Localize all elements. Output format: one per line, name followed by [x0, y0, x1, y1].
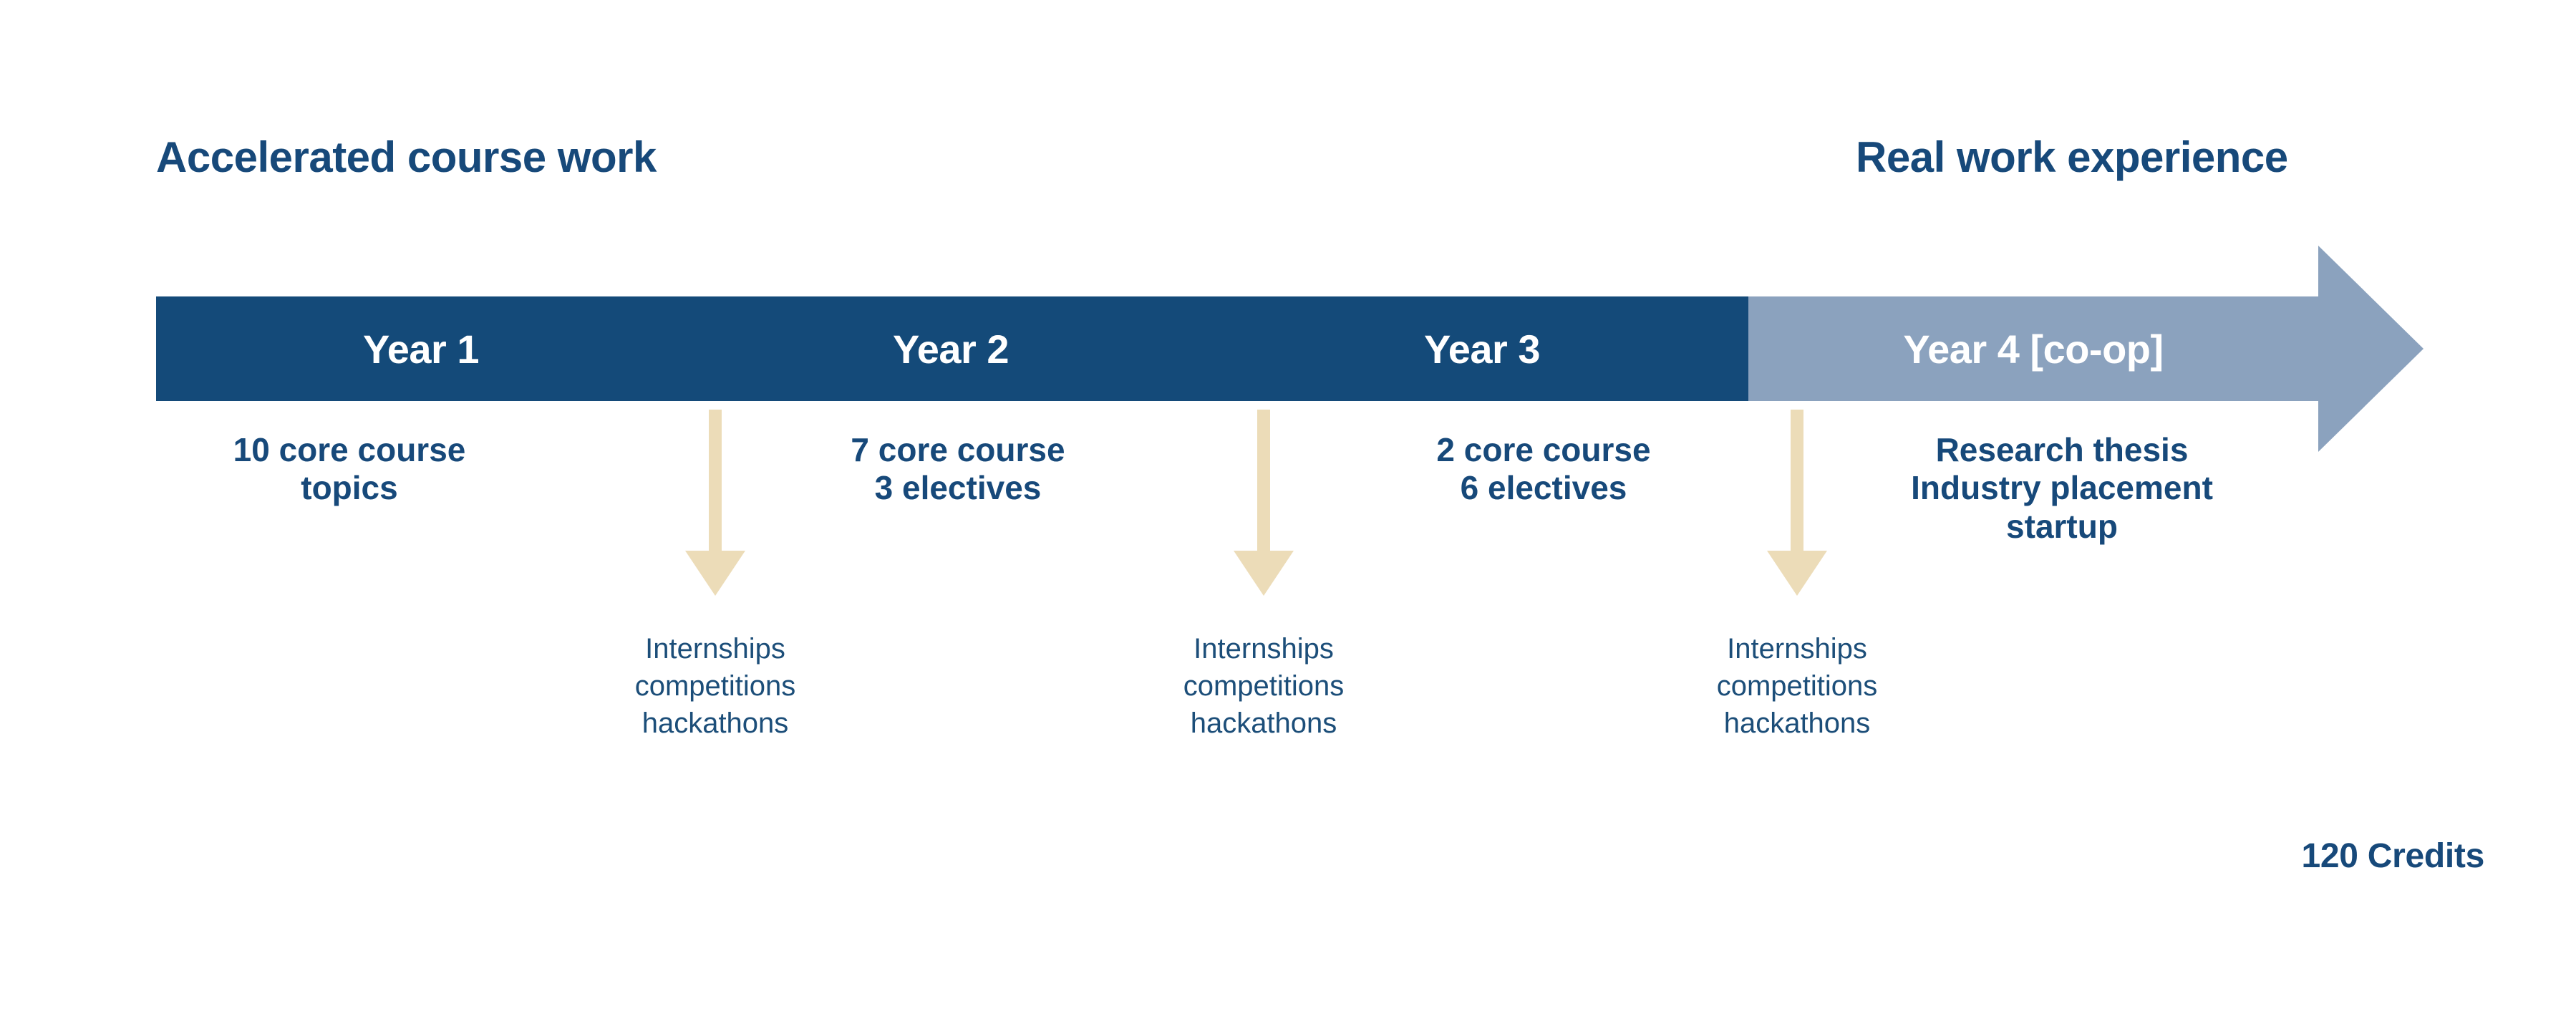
milestone-caption-1: Internships competitions hackathons [565, 630, 866, 742]
timeline-segment-year-4: Year 4 [co-op] [1748, 296, 2318, 401]
year-1-description: 10 core course topics [163, 431, 536, 508]
timeline-segment-year-2: Year 2 [686, 296, 1216, 401]
curriculum-timeline-diagram: Accelerated course work Real work experi… [0, 0, 2576, 1014]
milestone-caption-3: Internships competitions hackathons [1647, 630, 1947, 742]
arrow-right-icon [2318, 246, 2424, 452]
segment-label-year-1: Year 1 [363, 326, 479, 372]
timeline-band: Year 1 Year 2 Year 3 Year 4 [co-op] [156, 296, 2318, 401]
milestone-caption-2: Internships competitions hackathons [1113, 630, 1414, 742]
header-accelerated-course-work: Accelerated course work [156, 132, 657, 182]
timeline-segment-year-3: Year 3 [1216, 296, 1748, 401]
segment-label-year-4: Year 4 [co-op] [1903, 326, 2163, 372]
year-2-description: 7 core course 3 electives [772, 431, 1144, 508]
header-real-work-experience: Real work experience [1856, 132, 2288, 182]
total-credits-label: 120 Credits [2302, 836, 2485, 876]
arrow-down-icon [1767, 410, 1827, 596]
arrow-down-icon [1234, 410, 1294, 596]
timeline-segment-year-1: Year 1 [156, 296, 686, 401]
arrow-down-icon [685, 410, 745, 596]
year-4-description: Research thesis Industry placement start… [1811, 431, 2313, 546]
year-3-description: 2 core course 6 electives [1357, 431, 1730, 508]
segment-label-year-2: Year 2 [893, 326, 1009, 372]
segment-label-year-3: Year 3 [1424, 326, 1540, 372]
